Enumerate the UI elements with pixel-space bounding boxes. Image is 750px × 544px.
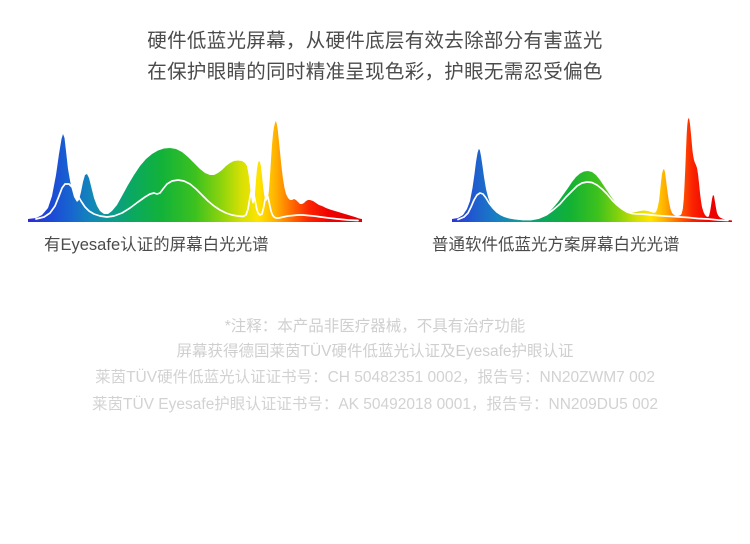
chart-software-lowblue: 普通软件低蓝光方案屏幕白光光谱 <box>432 112 732 227</box>
spectrum-charts: 有Eyesafe认证的屏幕白光光谱 <box>0 112 750 262</box>
headline-line-1: 硬件低蓝光屏幕，从硬件底层有效去除部分有害蓝光 <box>0 26 750 57</box>
spectrum-curve-eyesafe <box>22 112 362 227</box>
footnotes: *注释：本产品非医疗器械，不具有治疗功能 屏幕获得德国莱茵TÜV硬件低蓝光认证及… <box>0 314 750 418</box>
page-title: 硬件低蓝光屏幕，从硬件底层有效去除部分有害蓝光 在保护眼睛的同时精准呈现色彩，护… <box>0 26 750 88</box>
chart-eyesafe-certified: 有Eyesafe认证的屏幕白光光谱 <box>22 112 362 227</box>
footnote-cert-line-2: 莱茵TÜV Eyesafe护眼认证证书号：AK 50492018 0001，报告… <box>0 391 750 418</box>
footnote-note: *注释：本产品非医疗器械，不具有治疗功能 <box>0 314 750 339</box>
footnote-cert-line-1: 莱茵TÜV硬件低蓝光认证证书号：CH 50482351 0002，报告号：NN2… <box>0 364 750 391</box>
chart-caption-eyesafe: 有Eyesafe认证的屏幕白光光谱 <box>44 234 269 256</box>
chart-caption-software: 普通软件低蓝光方案屏幕白光光谱 <box>432 234 680 256</box>
spectrum-comparison-page: 硬件低蓝光屏幕，从硬件底层有效去除部分有害蓝光 在保护眼睛的同时精准呈现色彩，护… <box>0 0 750 544</box>
headline-line-2: 在保护眼睛的同时精准呈现色彩，护眼无需忍受偏色 <box>0 57 750 88</box>
spectrum-area-left <box>28 121 362 222</box>
spectrum-curve-software <box>432 112 732 227</box>
spectrum-area-right <box>452 118 732 222</box>
footnote-certification: 屏幕获得德国莱茵TÜV硬件低蓝光认证及Eyesafe护眼认证 <box>0 339 750 364</box>
